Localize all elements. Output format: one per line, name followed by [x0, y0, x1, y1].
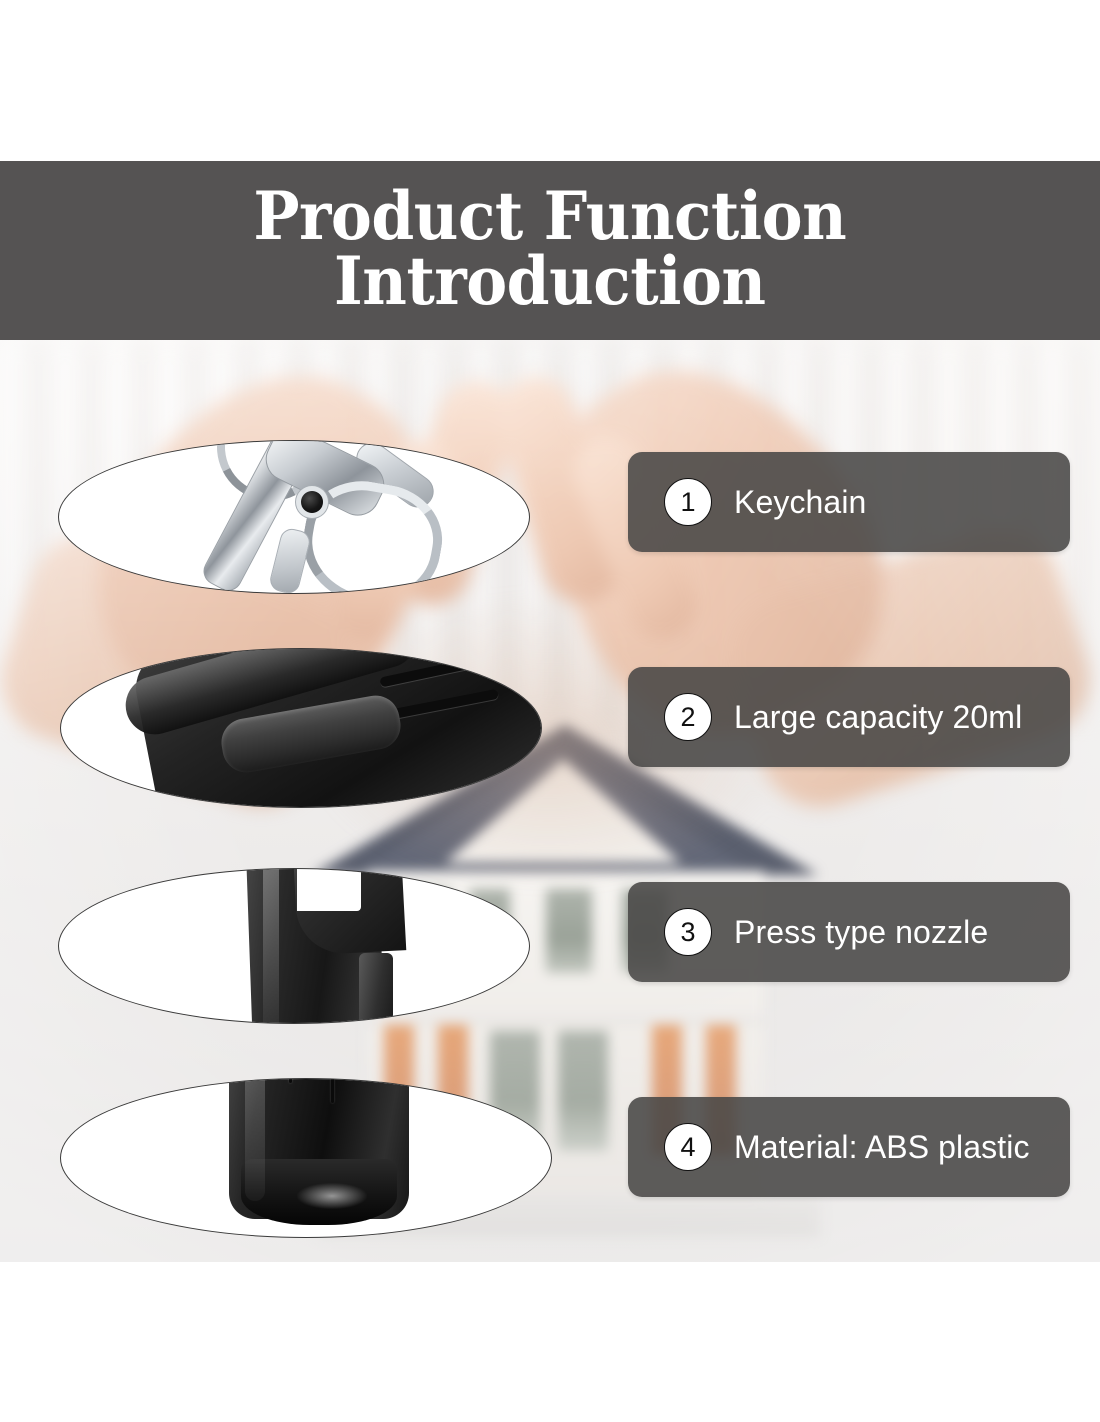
clasp-rivet	[301, 491, 323, 513]
bottle-slit	[331, 1078, 334, 1103]
feature-item-4[interactable]: 4 Material: ABS plastic	[628, 1097, 1070, 1197]
infographic-page: Product Function Introduction	[0, 0, 1100, 1422]
bottle-shine	[297, 1183, 367, 1209]
feature-label: Keychain	[734, 484, 866, 521]
bottle-highlight	[245, 1078, 265, 1201]
feature-label: Material: ABS plastic	[734, 1129, 1030, 1166]
callout-oval-capacity	[60, 648, 542, 808]
page-title: Product Function Introduction	[253, 184, 846, 313]
feature-item-3[interactable]: 3 Press type nozzle	[628, 882, 1070, 982]
keychain-clasp-photo	[59, 441, 529, 593]
bottle-slit	[289, 1078, 292, 1083]
feature-label: Press type nozzle	[734, 914, 988, 951]
clasp-lever	[268, 526, 313, 594]
bottle-base-photo	[61, 1079, 551, 1237]
nozzle-stem	[359, 953, 393, 1024]
nozzle-highlight	[263, 868, 279, 1024]
feature-item-2[interactable]: 2 Large capacity 20ml	[628, 667, 1070, 767]
feature-number-badge: 4	[664, 1123, 712, 1171]
nozzle-notch	[297, 868, 361, 911]
feature-number-badge: 1	[664, 478, 712, 526]
header-banner: Product Function Introduction	[0, 161, 1100, 340]
feature-number-badge: 3	[664, 908, 712, 956]
feature-item-1[interactable]: 1 Keychain	[628, 452, 1070, 552]
press-nozzle-photo	[59, 869, 529, 1023]
feature-number-badge: 2	[664, 693, 712, 741]
bottle-body-photo	[61, 649, 541, 807]
callout-oval-material	[60, 1078, 552, 1238]
feature-label: Large capacity 20ml	[734, 699, 1022, 736]
callout-oval-nozzle	[58, 868, 530, 1024]
callout-oval-keychain	[58, 440, 530, 594]
